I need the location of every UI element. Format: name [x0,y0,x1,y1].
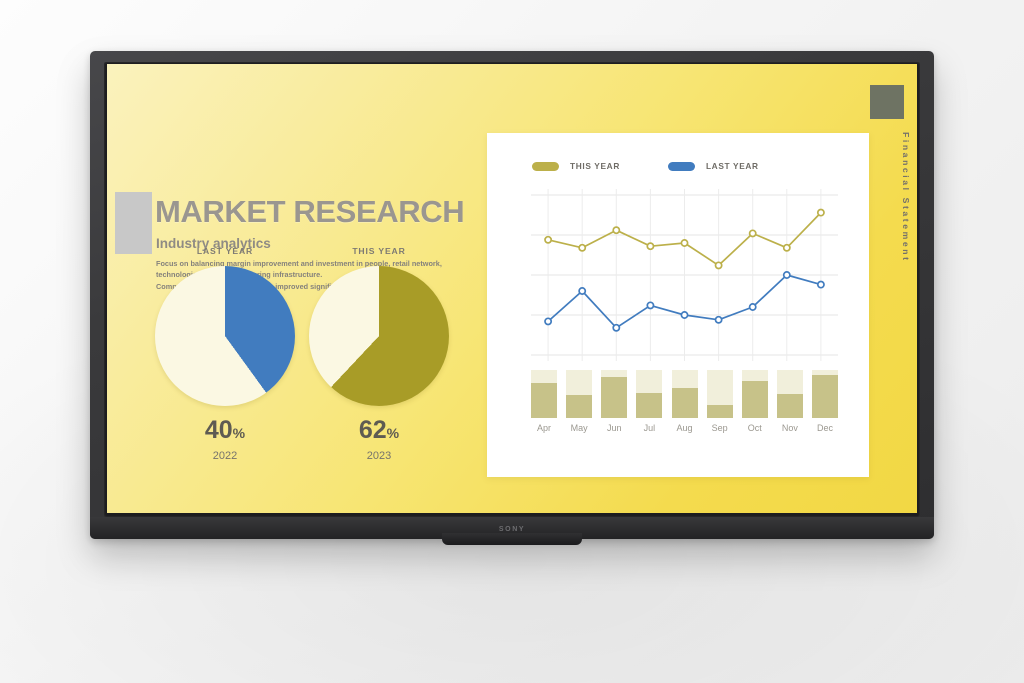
bar-jul [636,370,662,418]
bar-fill [672,388,698,418]
pie-value-this-year: 62% [309,416,449,445]
pie-value-number-this-year: 62 [359,416,387,444]
legend-item-last-year: LAST YEAR [668,161,759,171]
pie-value-last-year: 40% [155,416,295,445]
brand-logo: SONY [499,526,525,533]
month-label-sep: Sep [707,423,733,433]
monitor-stand [442,533,582,545]
month-label-oct: Oct [742,423,768,433]
pie-chart-last-year [155,266,295,406]
bar-nov [777,370,803,418]
pie-value-symbol-this-year: % [387,425,399,441]
line-chart [531,189,838,361]
bar-oct [742,370,768,418]
bar-fill [636,393,662,418]
bar-jun [601,370,627,418]
bar-fill [601,377,627,418]
month-label-apr: Apr [531,423,557,433]
bar-aug [672,370,698,418]
pie-year-last-year: 2022 [155,450,295,462]
bar-fill [742,381,768,418]
bar-sep [707,370,733,418]
month-label-jul: Jul [636,423,662,433]
legend-swatch-this-year [532,162,559,171]
legend-swatch-last-year [668,162,695,171]
month-label-nov: Nov [777,423,803,433]
bar-chart-axis-labels: AprMayJunJulAugSepOctNovDec [531,423,838,433]
decorative-side-block [870,85,904,119]
legend-label-last-year: LAST YEAR [706,161,759,171]
bar-fill [566,395,592,418]
bar-chart [531,370,838,418]
bar-dec [812,370,838,418]
pie-value-number-last-year: 40 [205,416,233,444]
pie-title-this-year: THIS YEAR [309,246,449,256]
bar-fill [812,375,838,418]
legend-item-this-year: THIS YEAR [532,161,620,171]
month-label-jun: Jun [601,423,627,433]
bar-fill [531,383,557,418]
pie-value-symbol-last-year: % [233,425,245,441]
pie-chart-this-year [309,266,449,406]
pie-title-last-year: LAST YEAR [155,246,295,256]
line-chart-svg [531,189,838,361]
month-label-may: May [566,423,592,433]
screenshot-stage: SONY MARKET RESEARCH Industry analytics … [0,0,1024,683]
chart-legend: THIS YEAR LAST YEAR [532,161,759,171]
bar-fill [777,394,803,418]
bar-may [566,370,592,418]
month-label-dec: Dec [812,423,838,433]
month-label-aug: Aug [672,423,698,433]
sidebar-vertical-label: Financial Statement [901,132,911,263]
analytics-card: THIS YEAR LAST YEAR AprMayJunJulAugSepOc… [487,133,869,477]
bar-fill [707,405,733,418]
pie-year-this-year: 2023 [309,450,449,462]
legend-label-this-year: THIS YEAR [570,161,620,171]
bar-apr [531,370,557,418]
presentation-slide: MARKET RESEARCH Industry analytics Focus… [107,64,917,513]
